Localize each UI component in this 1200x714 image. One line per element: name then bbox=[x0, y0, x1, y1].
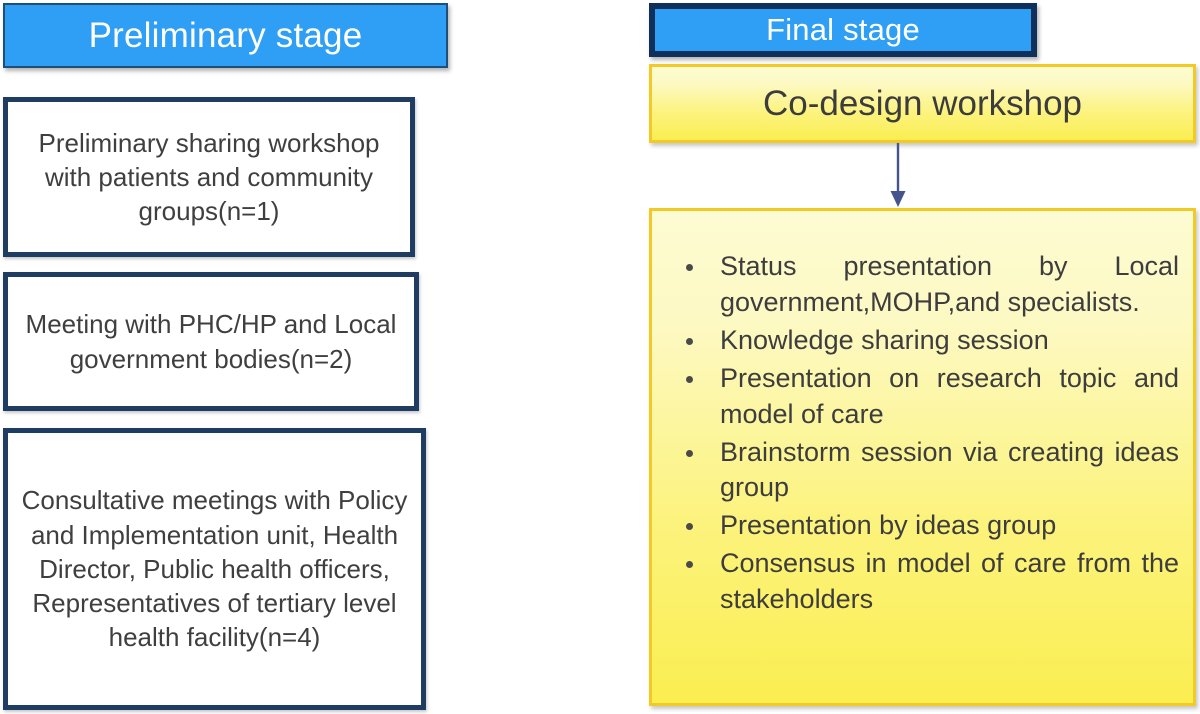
preliminary-stage-header: Preliminary stage bbox=[3, 3, 448, 68]
final-stage-title: Final stage bbox=[766, 12, 920, 48]
final-stage-bullet-list: Status presentation by Local government,… bbox=[668, 249, 1179, 618]
list-item: Presentation on research topic and model… bbox=[668, 361, 1179, 433]
preliminary-step-box-1: Preliminary sharing workshop with patien… bbox=[3, 97, 415, 257]
co-design-workshop-box: Co-design workshop bbox=[649, 64, 1196, 143]
bullet-text-1: Status presentation by Local government,… bbox=[720, 251, 1179, 317]
bullet-text-5: Presentation by ideas group bbox=[720, 510, 1056, 540]
preliminary-step-text-3: Consultative meetings with Policy and Im… bbox=[18, 483, 411, 655]
final-stage-activities-box: Status presentation by Local government,… bbox=[649, 208, 1196, 706]
list-item: Status presentation by Local government,… bbox=[668, 249, 1179, 321]
preliminary-stage-title: Preliminary stage bbox=[89, 16, 363, 56]
list-item: Brainstorm session via creating ideas gr… bbox=[668, 435, 1179, 507]
preliminary-step-text-1: Preliminary sharing workshop with patien… bbox=[18, 126, 400, 229]
co-design-workshop-title: Co-design workshop bbox=[763, 84, 1082, 124]
down-arrow-icon bbox=[884, 143, 912, 209]
list-item: Knowledge sharing session bbox=[668, 323, 1179, 359]
list-item: Presentation by ideas group bbox=[668, 508, 1179, 544]
preliminary-step-box-2: Meeting with PHC/HP and Local government… bbox=[3, 272, 419, 411]
bullet-text-3: Presentation on research topic and model… bbox=[720, 363, 1179, 429]
final-stage-header: Final stage bbox=[649, 3, 1037, 57]
bullet-text-4: Brainstorm session via creating ideas gr… bbox=[720, 437, 1179, 503]
preliminary-step-text-2: Meeting with PHC/HP and Local government… bbox=[18, 307, 404, 376]
bullet-text-2: Knowledge sharing session bbox=[720, 325, 1049, 355]
list-item: Consensus in model of care from the stak… bbox=[668, 546, 1179, 618]
preliminary-step-box-3: Consultative meetings with Policy and Im… bbox=[3, 428, 426, 710]
bullet-text-6: Consensus in model of care from the stak… bbox=[720, 548, 1179, 614]
